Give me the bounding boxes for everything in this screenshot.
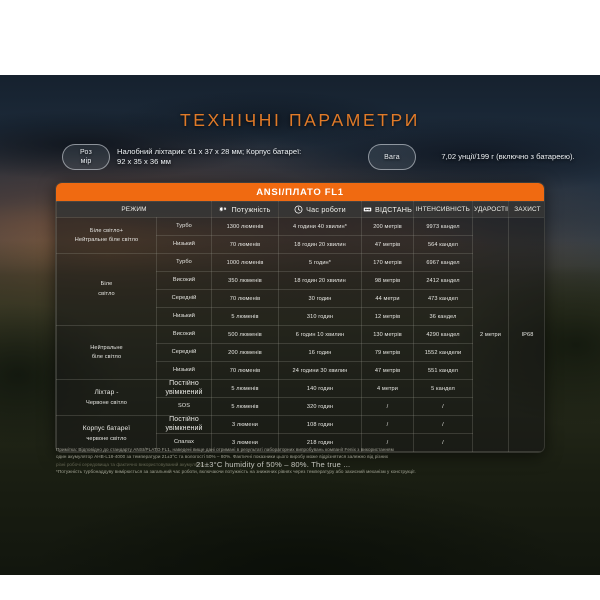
runtime-cell: 30 годин xyxy=(279,290,362,308)
header-runtime-label: Час роботи xyxy=(306,205,346,214)
distance-cell: 44 метри xyxy=(362,290,414,308)
group-label-white-neutral: Біле світло+ Нейтральне біле світло xyxy=(57,218,157,254)
spec-weight-value: 7,02 унції/199 г (включно з батареєю). xyxy=(423,152,593,162)
lumens-cell: 5 люменів xyxy=(212,398,279,416)
group-label-red-lamp: Ліхтар - Червоне світло xyxy=(57,380,157,416)
runtime-cell: 16 годин xyxy=(279,344,362,362)
group-label-white: Біле світло xyxy=(57,254,157,326)
table-row: Нейтральне біле світло Високий 500 люмен… xyxy=(57,326,546,344)
group-label-sub: світло xyxy=(58,290,155,300)
runtime-cell: 4 години 40 хвилин* xyxy=(279,218,362,236)
group-label-sub: Нейтральне біле світло xyxy=(58,236,155,244)
table-body: Біле світло+ Нейтральне біле світло Турб… xyxy=(57,218,546,452)
header-impact-resistance: УДАРОСТІЙКІСТЬ xyxy=(473,202,509,218)
lumens-cell: 5 люменів xyxy=(212,380,279,398)
group-label-sub: біле світло xyxy=(58,353,155,361)
header-protection-label: ЗАХИСТ xyxy=(514,206,541,213)
table-header-row: РЕЖИМ Потужність xyxy=(57,202,546,218)
header-distance: ВІДСТАНЬ xyxy=(362,202,414,218)
lumens-cell: 1000 люменів xyxy=(212,254,279,272)
spec-size-pill-line2: мір xyxy=(81,157,92,166)
spec-size-value: Налобний ліхтарик: 61 x 37 x 28 мм; Корп… xyxy=(117,147,302,167)
runtime-cell: 6 годин 10 хвилин xyxy=(279,326,362,344)
distance-cell: / xyxy=(362,416,414,434)
runtime-cell: 320 годин xyxy=(279,398,362,416)
group-label-main: Біле світло+ xyxy=(90,228,123,234)
mode-cell: Високий xyxy=(157,272,212,290)
spec-pill-row: Роз мір Налобний ліхтарик: 61 x 37 x 28 … xyxy=(0,144,600,178)
group-label-neutral-white: Нейтральне біле світло xyxy=(57,326,157,380)
header-distance-label: ВІДСТАНЬ xyxy=(375,205,412,214)
distance-cell: 12 метрів xyxy=(362,308,414,326)
distance-cell: 79 метрів xyxy=(362,344,414,362)
spec-size-pill: Роз мір xyxy=(62,144,110,170)
footnote-line-1: Примітка: Відповідно до стандарту ANSI/P… xyxy=(56,446,546,453)
runtime-cell: 18 годин 20 хвилин xyxy=(279,272,362,290)
intensity-cell: / xyxy=(414,398,473,416)
lumens-cell: 70 люменів xyxy=(212,236,279,254)
intensity-cell: / xyxy=(414,416,473,434)
intensity-cell: 36 кандел xyxy=(414,308,473,326)
spec-weight: Вага 7,02 унції/199 г (включно з батареє… xyxy=(368,144,593,170)
mode-cell: SOS xyxy=(157,398,212,416)
protection-cell: IP68 xyxy=(509,218,546,452)
mode-cell: Низький xyxy=(157,362,212,380)
spec-table: РЕЖИМ Потужність xyxy=(56,201,545,452)
header-intensity: ІНТЕНСИВНІСТЬ xyxy=(414,202,473,218)
distance-icon xyxy=(363,205,372,214)
header-mode-label: РЕЖИМ xyxy=(121,206,146,213)
header-power: Потужність xyxy=(212,202,279,218)
distance-cell: / xyxy=(362,398,414,416)
table-row: Ліхтар - Червоне світло Постійно увімкне… xyxy=(57,380,546,398)
lumens-cell: 1300 люменів xyxy=(212,218,279,236)
spec-table-card: ANSI/ПЛАТО FL1 РЕЖИМ xyxy=(55,182,545,453)
header-intensity-label: ІНТЕНСИВНІСТЬ xyxy=(416,206,470,213)
group-label-sub: червоне світло xyxy=(58,435,155,443)
mode-cell: Низький xyxy=(157,308,212,326)
lumens-cell: 70 люменів xyxy=(212,362,279,380)
mode-cell: Турбо xyxy=(157,254,212,272)
intensity-cell: 6967 кандел xyxy=(414,254,473,272)
intensity-cell: 473 кандел xyxy=(414,290,473,308)
distance-cell: 98 метрів xyxy=(362,272,414,290)
mode-cell: Високий xyxy=(157,326,212,344)
spec-weight-pill: Вага xyxy=(368,144,416,170)
header-runtime: Час роботи xyxy=(279,202,362,218)
distance-cell: 170 метрів xyxy=(362,254,414,272)
distance-cell: 4 метри xyxy=(362,380,414,398)
group-label-main: Ліхтар - xyxy=(94,389,118,396)
table-row: Біле світло+ Нейтральне біле світло Турб… xyxy=(57,218,546,236)
runtime-cell: 18 годин 20 хвилин xyxy=(279,236,362,254)
group-label-main: Нейтральне xyxy=(90,345,122,351)
group-label-sub: Червоне світло xyxy=(58,399,155,407)
intensity-cell: 4290 кандел xyxy=(414,326,473,344)
lumens-cell: 500 люменів xyxy=(212,326,279,344)
table-row: Біле світло Турбо 1000 люменів 5 годин* … xyxy=(57,254,546,272)
impact-resistance-cell: 2 метри xyxy=(473,218,509,452)
header-protection: ЗАХИСТ xyxy=(509,202,546,218)
spec-weight-pill-line1: Вага xyxy=(384,153,400,162)
runtime-cell: 5 годин* xyxy=(279,254,362,272)
mode-cell: Середній xyxy=(157,290,212,308)
mode-cell: Турбо xyxy=(157,218,212,236)
footnote-overlay-english: 21±3°C humidity of 50% – 80%. The true .… xyxy=(196,460,350,469)
spec-size-pill-line1: Роз xyxy=(80,148,92,157)
spec-size: Роз мір Налобний ліхтарик: 61 x 37 x 28 … xyxy=(62,144,302,170)
lumens-cell: 200 люменів xyxy=(212,344,279,362)
group-label-main: Корпус батареї xyxy=(83,425,130,432)
distance-cell: 47 метрів xyxy=(362,362,414,380)
lumens-cell: 5 люменів xyxy=(212,308,279,326)
mode-cell: Постійно увімкнений xyxy=(157,380,212,398)
header-impact-label: УДАРОСТІЙКІСТЬ xyxy=(474,206,509,213)
group-label-main: Біле xyxy=(101,281,113,287)
distance-cell: 130 метрів xyxy=(362,326,414,344)
intensity-cell: 5 кандел xyxy=(414,380,473,398)
lumens-cell: 3 люмени xyxy=(212,416,279,434)
lumens-cell: 70 люменів xyxy=(212,290,279,308)
header-mode: РЕЖИМ xyxy=(57,202,212,218)
intensity-cell: 551 кандел xyxy=(414,362,473,380)
runtime-cell: 24 години 30 хвилин xyxy=(279,362,362,380)
runtime-cell: 310 годин xyxy=(279,308,362,326)
clock-icon xyxy=(294,205,303,214)
intensity-cell: 1552 кандели xyxy=(414,344,473,362)
power-icon xyxy=(219,205,228,214)
lumens-cell: 350 люменів xyxy=(212,272,279,290)
runtime-cell: 108 годин xyxy=(279,416,362,434)
header-power-label: Потужність xyxy=(231,205,270,214)
intensity-cell: 9973 кандел xyxy=(414,218,473,236)
table-row: Корпус батареї червоне світло Постійно у… xyxy=(57,416,546,434)
page-title: ТЕХНІЧНІ ПАРАМЕТРИ xyxy=(0,110,600,131)
mode-cell: Постійно увімкнений xyxy=(157,416,212,434)
footnote-line-4: *Потужність турбонаддуву вимірюється за … xyxy=(56,468,546,475)
intensity-cell: 2412 кандел xyxy=(414,272,473,290)
table-title: ANSI/ПЛАТО FL1 xyxy=(56,183,544,201)
mode-cell: Середній xyxy=(157,344,212,362)
intensity-cell: 564 кандел xyxy=(414,236,473,254)
screenshot-root: ТЕХНІЧНІ ПАРАМЕТРИ Роз мір Налобний ліхт… xyxy=(0,0,600,600)
distance-cell: 200 метрів xyxy=(362,218,414,236)
distance-cell: 47 метрів xyxy=(362,236,414,254)
runtime-cell: 140 годин xyxy=(279,380,362,398)
mode-cell: Низький xyxy=(157,236,212,254)
